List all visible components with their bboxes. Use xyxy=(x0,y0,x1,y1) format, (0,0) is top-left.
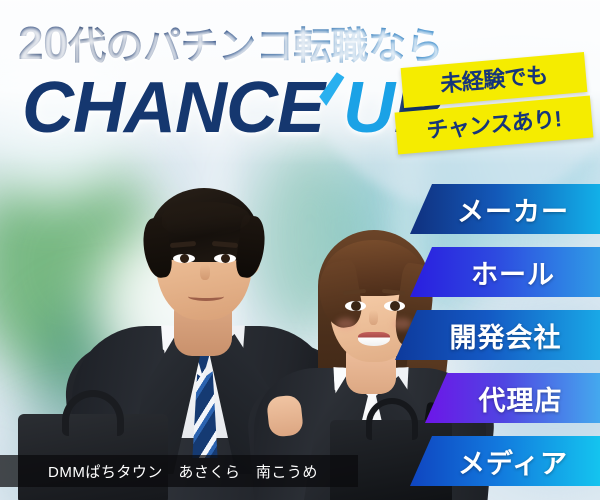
category-label: メーカー xyxy=(441,190,569,229)
hand xyxy=(266,394,304,437)
headline-number: 20 xyxy=(18,17,68,69)
credit-text: DMMぱちタウン あさくら 南こうめ xyxy=(0,461,318,482)
category-button-maker[interactable]: メーカー xyxy=(410,184,600,234)
category-label: 代理店 xyxy=(463,379,563,418)
badge: 未経験でも チャンスあり! xyxy=(396,56,586,156)
headline: 20代のパチンコ転職なら xyxy=(18,20,443,66)
advertisement-banner[interactable]: 20代のパチンコ転職なら CHANCE UP 未経験でも チャンスあり! メーカ… xyxy=(0,0,600,500)
credit-bar: DMMぱちタウン あさくら 南こうめ xyxy=(0,455,358,487)
logo-word-chance: CHANCE xyxy=(22,68,324,148)
headline-text: 代のパチンコ転職なら xyxy=(68,26,443,68)
category-label: メディア xyxy=(442,442,568,481)
category-button-development-company[interactable]: 開発会社 xyxy=(395,310,600,360)
category-label: 開発会社 xyxy=(434,316,562,355)
category-button-hall[interactable]: ホール xyxy=(410,247,600,297)
logo-letter-u: U xyxy=(343,68,394,148)
category-button-agency[interactable]: 代理店 xyxy=(425,373,600,423)
category-label: ホール xyxy=(455,253,555,292)
category-button-media[interactable]: メディア xyxy=(410,436,600,486)
logo-chance-up: CHANCE UP xyxy=(22,72,441,144)
